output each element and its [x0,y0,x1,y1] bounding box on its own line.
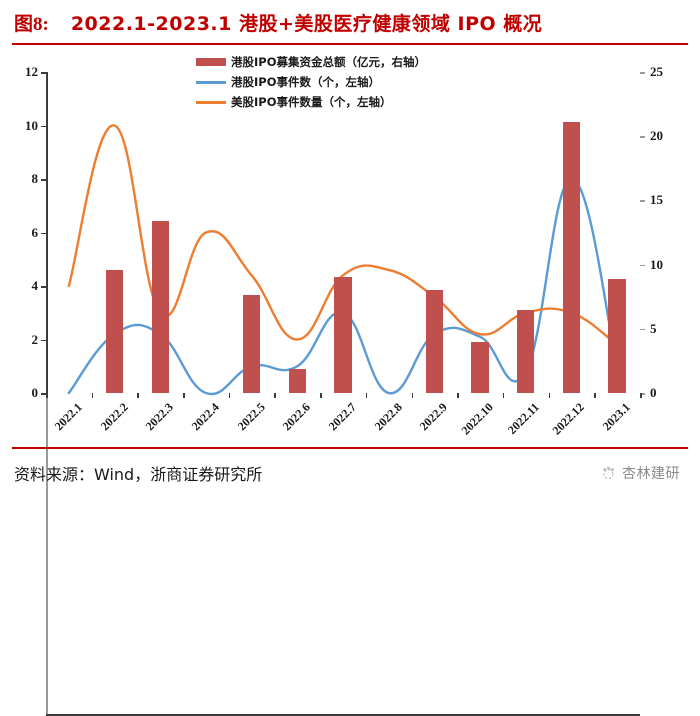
right-axis-tick-label: 20 [650,128,678,144]
chart-container: 港股IPO募集资金总额（亿元，右轴） 港股IPO事件数（个，左轴） 美股IPO事… [0,46,700,444]
bar-2022.10 [471,342,488,393]
x-axis-tick [366,393,368,398]
figure-title-row: 图8: 2022.1-2023.1 港股+美股医疗健康领域 IPO 概况 [0,0,700,44]
paw-logo-icon [600,465,617,482]
plot-inner: 02468101205101520252022.12022.22022.3202… [46,72,640,419]
legend-label-bar: 港股IPO募集资金总额（亿元，右轴） [231,54,426,70]
right-axis-tick-label: 15 [650,192,678,208]
plot-area: 02468101205101520252022.12022.22022.3202… [46,72,640,419]
left-axis-tick [41,233,46,235]
right-axis-tick-label: 25 [650,64,678,80]
brand: 杏林建研 [600,463,686,483]
x-axis-tick [594,393,596,398]
title-divider [12,43,688,45]
right-axis-tick-label: 10 [650,257,678,273]
x-axis-tick [92,393,94,398]
x-axis-tick [640,393,642,398]
bar-2022.6 [289,369,306,393]
x-axis-tick [320,393,322,398]
left-axis-tick-label: 6 [10,225,38,241]
x-axis-tick [46,393,48,398]
bar-2022.11 [517,310,534,393]
left-axis-tick [41,286,46,288]
x-axis-line [46,714,640,716]
bar-2022.9 [426,290,443,393]
brand-text: 杏林建研 [622,463,680,483]
bar-2022.3 [152,221,169,393]
right-axis-tick [640,136,645,138]
left-axis-tick-label: 0 [10,385,38,401]
x-axis-tick [549,393,551,398]
figure-label: 图8: [14,9,49,36]
right-axis-tick-label: 5 [650,321,678,337]
left-axis-tick-label: 2 [10,332,38,348]
x-axis-tick [137,393,139,398]
page-title: 2022.1-2023.1 港股+美股医疗健康领域 IPO 概况 [71,9,542,36]
left-axis-tick [41,72,46,74]
x-axis-tick [457,393,459,398]
left-axis-tick-label: 10 [10,118,38,134]
bar-2023.1 [608,279,625,393]
legend-item-bar: 港股IPO募集资金总额（亿元，右轴） [196,52,496,72]
footer-divider [12,447,688,449]
right-axis-tick [640,200,645,202]
source-text: 资料来源：Wind，浙商证券研究所 [14,461,262,485]
bar-2022.12 [563,122,580,393]
legend-swatch-bar-icon [196,58,226,66]
left-axis-tick-label: 8 [10,171,38,187]
footer: 资料来源：Wind，浙商证券研究所 杏林建研 [14,456,686,490]
x-axis-tick [183,393,185,398]
right-axis-tick-label: 0 [650,385,678,401]
left-axis-tick [41,340,46,342]
left-axis-tick [41,179,46,181]
right-axis-tick [640,72,645,74]
bar-2022.2 [106,270,123,393]
right-axis-tick [640,265,645,267]
bar-2022.5 [243,295,260,393]
x-axis-tick [229,393,231,398]
left-axis-tick-label: 12 [10,64,38,80]
x-axis-tick [503,393,505,398]
left-axis-tick [41,126,46,128]
x-axis-tick [412,393,414,398]
bar-2022.7 [334,277,351,393]
right-axis-tick [640,329,645,331]
left-axis-tick-label: 4 [10,278,38,294]
x-axis-tick [274,393,276,398]
